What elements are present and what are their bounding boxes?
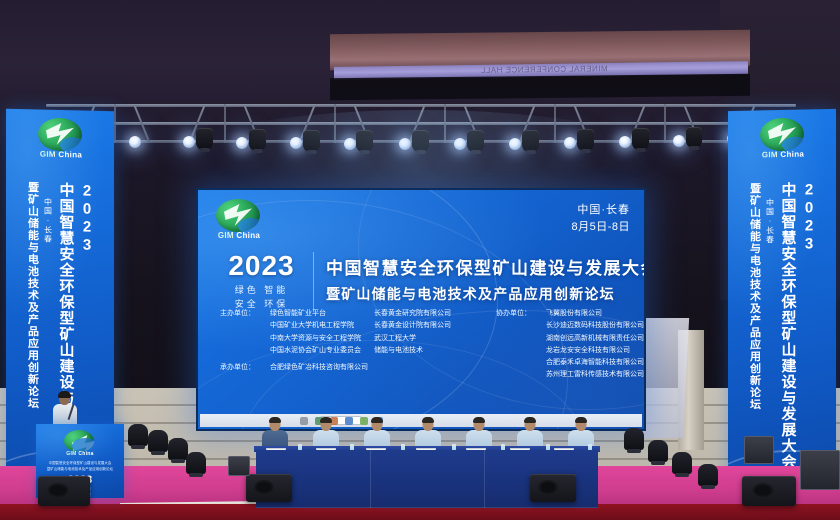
logo-china-text: China	[236, 231, 260, 240]
stage-light	[509, 138, 521, 150]
sponsor-host-row1: 主办单位： 绿色智能矿业平台 长春黄金研究院有限公司	[220, 308, 474, 320]
sponsor-coorg-4: 龙岩龙安安全科技有限公司	[546, 345, 644, 357]
panelist-hair	[371, 417, 383, 423]
sponsor-coorg-6: 苏州理工雷科传感技术有限公司	[546, 369, 644, 381]
logo-china-text: China	[780, 150, 804, 159]
ceiling-shadow	[330, 74, 750, 100]
podium-logo: GIM China	[62, 430, 98, 458]
moving-head-fixture	[686, 127, 702, 148]
moving-head-light	[186, 452, 206, 474]
screen-date: 8月5日-8日	[571, 219, 630, 236]
truss-post	[664, 104, 666, 143]
sponsor-host-row2: 中国矿业大学机电工程学院 长春黄金设计院有限公司	[220, 320, 474, 332]
sponsor-coorg-label: 协办单位：	[496, 308, 546, 320]
moving-head-fixture	[356, 130, 373, 152]
logo-china-text: China	[58, 150, 82, 160]
truss-post	[334, 104, 336, 143]
floor-monitor-speaker	[246, 474, 292, 502]
sponsor-host-row4: 中国水泥协会矿山专业委员会 储能与电池技术	[220, 345, 474, 357]
moving-head-fixture	[196, 128, 213, 150]
stage-light	[290, 137, 302, 149]
sponsor-coorg-3: 湖南创远高新机械有限责任公司	[546, 333, 644, 345]
logo-gim-text: GIM	[762, 150, 778, 159]
moving-head-light	[148, 430, 168, 452]
sponsor-host-b1: 长春黄金研究院有限公司	[374, 308, 474, 320]
stage-light	[399, 138, 411, 150]
presenter-torso	[53, 404, 77, 426]
stage-light	[129, 136, 141, 148]
moving-head-fixture	[249, 129, 266, 151]
screen-year-column: 2023 绿色 智能 安全 环保	[218, 252, 314, 311]
banner-right-logo: GIM China	[756, 117, 808, 160]
moving-head-light	[624, 428, 644, 450]
stage-light	[619, 136, 631, 148]
logo-china-text: China	[78, 451, 93, 457]
sponsor-host-group: 主办单位： 绿色智能矿业平台 长春黄金研究院有限公司 中国矿业大学机电工程学院 …	[220, 308, 474, 382]
floor-monitor-speaker	[38, 476, 90, 506]
stage-light	[183, 136, 195, 148]
podium-title-line1: 中国智慧安全环保型矿山建设与发展大会	[41, 460, 119, 465]
stage-scene: MINERAL CONFERENCE HALL	[0, 0, 840, 520]
screen-title-block: 2023 绿色 智能 安全 环保 中国智慧安全环保型矿山建设与发展大会 暨矿山储…	[218, 252, 630, 311]
truss-post	[554, 104, 556, 143]
sponsor-coorg-row1: 协办单位： 飞翼股份有限公司	[496, 308, 644, 320]
sponsor-organizer-value: 合肥绿色矿冶科技咨询有限公司	[270, 362, 368, 374]
stage-light	[236, 137, 248, 149]
panelist-hair	[524, 417, 536, 423]
stage-light	[673, 135, 685, 147]
truss-post	[224, 104, 226, 143]
sponsor-host-a1: 绿色智能矿业平台	[270, 308, 374, 320]
panelist-hair	[575, 417, 587, 423]
floor-monitor-speaker	[530, 474, 576, 502]
gim-swoosh-icon	[64, 430, 94, 452]
screen-title-sub: 暨矿山储能与电池技术及产品应用创新论坛	[326, 284, 644, 304]
moving-head-light	[698, 464, 718, 486]
truss-chord-mid	[46, 122, 796, 125]
sponsor-coorg-5: 合肥泰禾卓海智能科技有限公司	[546, 357, 644, 369]
moving-head-fixture	[632, 128, 649, 150]
screen-slogan-line1: 绿色 智能	[218, 284, 305, 298]
stage-light	[564, 137, 576, 149]
sponsor-host-b3: 武汉工程大学	[374, 333, 474, 345]
stage-light	[454, 138, 466, 150]
banner-left-logo-text: GIM China	[34, 149, 88, 159]
sponsor-host-row3: 中南大学资源与安全工程学院 武汉工程大学	[220, 333, 474, 345]
sponsor-host-b2: 长春黄金设计院有限公司	[374, 320, 474, 332]
sponsor-host-a3: 中南大学资源与安全工程学院	[270, 333, 374, 345]
sponsor-host-a4: 中国水泥协会矿山专业委员会	[270, 345, 374, 357]
truss-post	[114, 104, 116, 143]
moving-head-fixture	[412, 130, 429, 152]
logo-gim-text: GIM	[40, 150, 56, 159]
banner-left-logo: GIM China	[34, 117, 86, 160]
gim-swoosh-icon	[38, 118, 82, 152]
screen-title-main: 中国智慧安全环保型矿山建设与发展大会	[326, 254, 644, 279]
screen-year: 2023	[218, 252, 305, 280]
sponsor-coorg-group: 协办单位： 飞翼股份有限公司 长沙迪迈数码科技股份有限公司 湖南创远高新机械有限…	[474, 308, 644, 382]
screen-city: 中国·长春	[571, 202, 630, 219]
moving-head-light	[128, 424, 148, 446]
moving-head-light	[648, 440, 668, 462]
sponsor-host-a2: 中国矿业大学机电工程学院	[270, 320, 374, 332]
panelist-hair	[269, 417, 281, 423]
screen-sponsor-block: 主办单位： 绿色智能矿业平台 长春黄金研究院有限公司 中国矿业大学机电工程学院 …	[220, 308, 632, 382]
moving-head-fixture	[303, 130, 320, 152]
sponsor-host-label: 主办单位：	[220, 308, 270, 320]
screen-location-block: 中国·长春 8月5日-8日	[571, 202, 630, 235]
presenter-figure	[52, 392, 78, 426]
moving-head-fixture	[577, 129, 594, 151]
banner-right-logo-text: GIM China	[756, 149, 810, 159]
floor-monitor-speaker	[742, 476, 796, 506]
equipment-road-case	[744, 436, 774, 464]
moving-head-light	[672, 452, 692, 474]
podium-title-line2: 暨矿山储能与电池技术及产品应用创新论坛	[41, 466, 119, 471]
sponsor-host-b4: 储能与电池技术	[374, 345, 474, 357]
panelist-hair	[473, 417, 485, 423]
sponsor-coorg-1: 飞翼股份有限公司	[546, 308, 602, 320]
main-led-screen: GIM China 中国·长春 8月5日-8日 2023 绿色 智能 安全 环保	[196, 188, 646, 431]
moving-head-fixture	[467, 130, 484, 152]
panelist-hair	[320, 417, 332, 423]
logo-gim-text: GIM	[66, 451, 76, 457]
truss-post	[444, 104, 446, 143]
screen-slogan: 绿色 智能 安全 环保	[218, 284, 305, 311]
moving-head-fixture	[522, 130, 539, 152]
moving-head-light	[168, 438, 188, 460]
logo-gim-text: GIM	[218, 231, 234, 240]
gim-swoosh-icon	[760, 118, 804, 152]
presenter-hair	[58, 391, 71, 398]
podium-logo-text: GIM China	[62, 451, 98, 457]
sponsor-organizer-row: 承办单位： 合肥绿色矿冶科技咨询有限公司	[220, 362, 474, 374]
screen-logo-text: GIM China	[212, 231, 266, 240]
sponsor-organizer-label: 承办单位：	[220, 362, 270, 374]
led-screen-content: GIM China 中国·长春 8月5日-8日 2023 绿色 智能 安全 环保	[198, 190, 644, 429]
equipment-road-case	[228, 456, 250, 476]
stage-light	[344, 138, 356, 150]
gim-swoosh-icon	[216, 199, 260, 232]
sponsor-coorg-list: 长沙迪迈数码科技股份有限公司 湖南创远高新机械有限责任公司 龙岩龙安安全科技有限…	[496, 320, 644, 381]
panelist-hair	[422, 417, 434, 423]
sponsor-coorg-2: 长沙迪迈数码科技股份有限公司	[546, 320, 644, 332]
equipment-road-case	[800, 450, 840, 490]
screen-logo: GIM China	[212, 199, 266, 245]
screen-title-column: 中国智慧安全环保型矿山建设与发展大会 暨矿山储能与电池技术及产品应用创新论坛	[314, 252, 644, 304]
